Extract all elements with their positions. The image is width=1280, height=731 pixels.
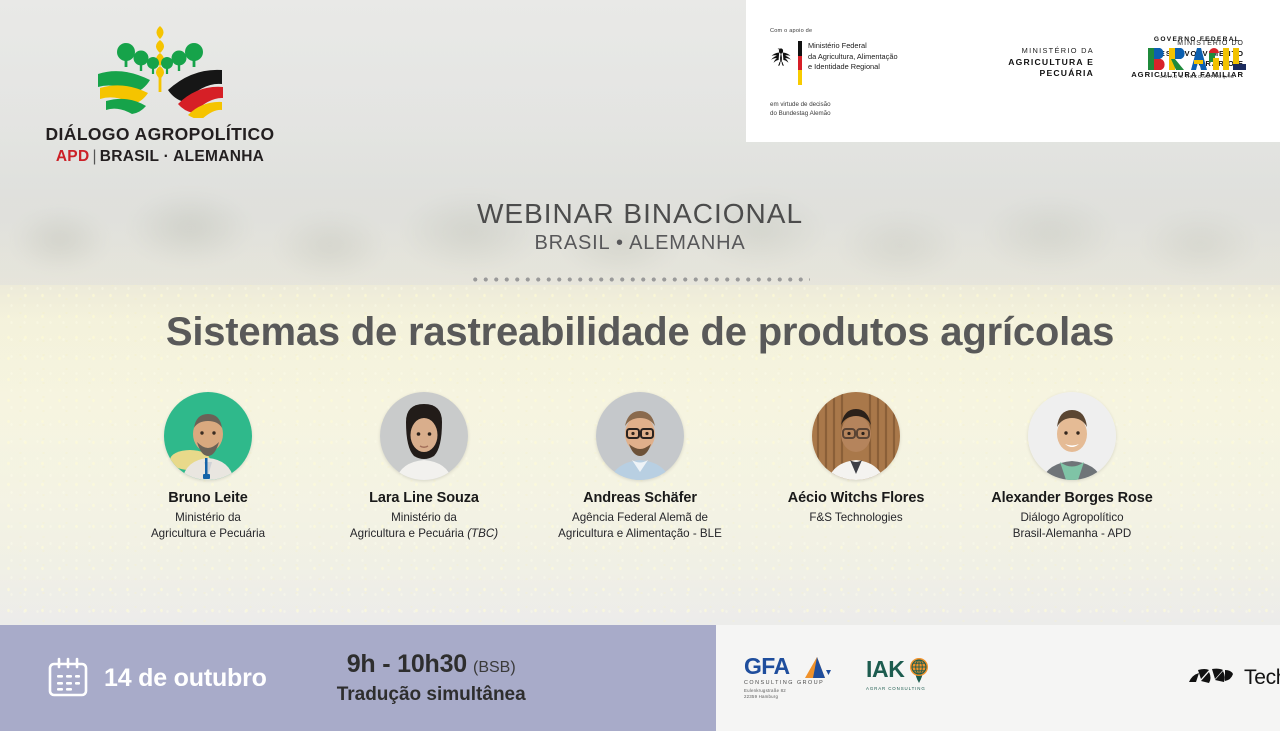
gfa-address: Eulenkrugstraße 82 22359 Hamburg	[744, 688, 852, 700]
german-ministry-logo: Com o apoio de	[770, 28, 950, 119]
speaker-org-note: (TBC)	[467, 527, 498, 540]
speaker-org-line-1: Ministério da	[112, 510, 304, 525]
german-flag-bar-icon	[798, 41, 802, 85]
speaker-name: Alexander Borges Rose	[976, 490, 1168, 507]
footer-partners-band: GFA CONSULTING GROUP Eulenkrugstraße 82 …	[716, 625, 1280, 731]
speaker-card: Aécio Witchs Flores F&S Technologies	[760, 392, 952, 526]
governo-federal-label: GOVERNO FEDERAL	[1144, 36, 1250, 43]
speaker-photo-alexander-borges-rose	[1028, 392, 1116, 480]
gfa-consulting-group-logo: GFA CONSULTING GROUP Eulenkrugstraße 82 …	[744, 656, 852, 700]
event-timezone: (BSB)	[473, 659, 516, 676]
gfa-wordmark: GFA	[744, 656, 789, 678]
event-date: 14 de outubro	[104, 664, 267, 693]
german-ministry-line-3: e Identidade Regional	[808, 62, 898, 73]
speaker-name: Andreas Schäfer	[544, 490, 736, 507]
apd-acronym: APD	[56, 148, 90, 165]
brasil-wordmark-icon	[1147, 46, 1247, 72]
speaker-name: Aécio Witchs Flores	[760, 490, 952, 507]
german-ministry-line-2: da Agricultura, Alimentação	[808, 52, 898, 63]
apd-separator: |	[92, 148, 96, 165]
gfa-address-line-2: 22359 Hamburg	[744, 694, 852, 700]
speaker-photo-lara-line-souza	[380, 392, 468, 480]
fs-technologies-logo: Technologies	[1187, 665, 1280, 691]
apd-countries: BRASIL · ALEMANHA	[100, 148, 264, 165]
german-ministry-name: Ministério Federal da Agricultura, Alime…	[808, 41, 898, 73]
wheat-trees-flag-logo-icon	[80, 18, 240, 118]
bundestag-footnote: em virtude de decisão do Bundestag Alemã…	[770, 101, 950, 119]
gfa-tagline: CONSULTING GROUP	[744, 680, 852, 686]
bundestag-footnote-line-1: em virtude de decisão	[770, 101, 950, 110]
speaker-org-line-1: Agência Federal Alemã de	[544, 510, 736, 525]
iak-wordmark: IAK	[866, 659, 904, 681]
speaker-card: Lara Line Souza Ministério da Agricultur…	[328, 392, 520, 541]
speaker-org-line-2: Agricultura e Pecuária (TBC)	[328, 526, 520, 541]
apd-logo-title: DIÁLOGO AGROPOLÍTICO	[40, 124, 280, 145]
speaker-name: Bruno Leite	[112, 490, 304, 507]
german-ministry-line-1: Ministério Federal	[808, 41, 898, 52]
globe-pin-icon	[907, 656, 931, 684]
calendar-icon	[46, 656, 90, 700]
ministry-1-line-3: PECUÁRIA	[949, 68, 1094, 78]
speaker-org-line-1: F&S Technologies	[760, 510, 952, 525]
bundestag-footnote-line-2: do Bundestag Alemão	[770, 110, 950, 119]
webinar-poster: DIÁLOGO AGROPOLÍTICO APD|BRASIL · ALEMAN…	[0, 0, 1280, 731]
event-time: 9h - 10h30	[347, 650, 467, 678]
speaker-organization: Diálogo Agropolítico Brasil-Alemanha - A…	[976, 510, 1168, 541]
speaker-card: Andreas Schäfer Agência Federal Alemã de…	[544, 392, 736, 541]
supported-by-label: Com o apoio de	[770, 28, 950, 34]
speaker-card: Alexander Borges Rose Diálogo Agropolíti…	[976, 392, 1168, 541]
fs-technologies-wordmark: Technologies	[1244, 666, 1280, 690]
dotted-divider	[470, 276, 810, 283]
gfa-triangle-icon	[791, 656, 831, 678]
footer-schedule-band: 14 de outubro 9h - 10h30(BSB) Tradução s…	[0, 625, 716, 731]
iak-agrar-consulting-logo: IAK AGRAR CONSULTING	[866, 656, 962, 691]
ministry-1-line-1: MINISTÉRIO DA	[949, 46, 1094, 55]
supporters-bar: Com o apoio de	[746, 0, 1280, 142]
page-title: Sistemas de rastreabilidade de produtos …	[0, 310, 1280, 355]
speaker-photo-bruno-leite	[164, 392, 252, 480]
german-eagle-icon	[770, 42, 792, 66]
speaker-org-line-2: Brasil-Alemanha - APD	[976, 526, 1168, 541]
fs-technologies-mark-icon	[1187, 665, 1235, 691]
speaker-card: Bruno Leite Ministério da Agricultura e …	[112, 392, 304, 541]
ministry-1-line-2: AGRICULTURA E	[949, 57, 1094, 67]
speaker-organization: Ministério da Agricultura e Pecuária (TB…	[328, 510, 520, 541]
translation-note: Tradução simultânea	[337, 684, 526, 706]
speaker-org-line-2: Agricultura e Pecuária	[112, 526, 304, 541]
event-time-block: 9h - 10h30(BSB) Tradução simultânea	[337, 650, 526, 706]
speakers-row: Bruno Leite Ministério da Agricultura e …	[0, 392, 1280, 541]
speaker-name: Lara Line Souza	[328, 490, 520, 507]
speaker-photo-aecio-witchs-flores	[812, 392, 900, 480]
speaker-organization: Agência Federal Alemã de Agricultura e A…	[544, 510, 736, 541]
governo-federal-tagline: UNIÃO E RECONSTRUÇÃO	[1144, 74, 1250, 79]
iak-tagline: AGRAR CONSULTING	[866, 686, 962, 691]
speaker-organization: F&S Technologies	[760, 510, 952, 525]
event-countries-subheading: BRASIL • ALEMANHA	[0, 232, 1280, 255]
apd-logo-subtitle: APD|BRASIL · ALEMANHA	[40, 148, 280, 166]
speaker-org-line-1: Diálogo Agropolítico	[976, 510, 1168, 525]
speaker-photo-andreas-schafer	[596, 392, 684, 480]
apd-logo: DIÁLOGO AGROPOLÍTICO APD|BRASIL · ALEMAN…	[40, 18, 280, 166]
event-type-heading: WEBINAR BINACIONAL	[0, 198, 1280, 230]
speaker-org-line-2: Agricultura e Alimentação - BLE	[544, 526, 736, 541]
governo-federal-logo: GOVERNO FEDERAL	[1144, 36, 1250, 79]
brazil-ministry-agriculture-logo: MINISTÉRIO DA AGRICULTURA E PECUÁRIA	[949, 46, 1094, 78]
speaker-organization: Ministério da Agricultura e Pecuária	[112, 510, 304, 541]
speaker-org-line-1: Ministério da	[328, 510, 520, 525]
